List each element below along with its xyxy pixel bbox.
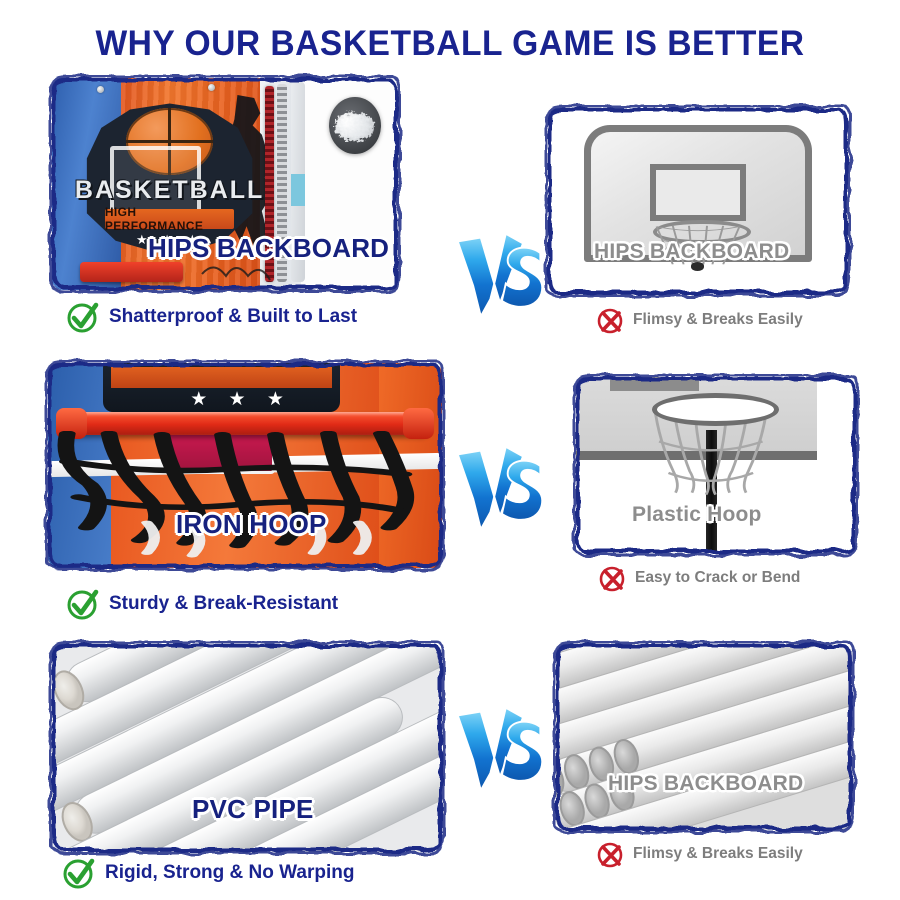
caption-bad-pipe: Flimsy & Breaks Easily: [596, 840, 803, 868]
red-rim: [80, 262, 184, 281]
vs-badge: VS: [452, 228, 548, 324]
vs-badge: [452, 702, 548, 798]
backboard-brand-sub: HIGH PERFORMANCE: [105, 209, 235, 229]
check-circle-icon: [66, 587, 100, 621]
bad-panel-hoop-image: Plastic Hoop: [576, 377, 856, 553]
caption-text: Sturdy & Break-Resistant: [109, 593, 338, 615]
caption-good-backboard: Shatterproof & Built to Last: [66, 300, 357, 334]
check-circle-icon: [62, 856, 96, 890]
cross-circle-icon: [596, 840, 624, 868]
cross-circle-icon: [598, 564, 626, 592]
hips-pellets-closeup: [329, 97, 381, 154]
page-title: WHY OUR BASKETBALL GAME IS BETTER: [18, 24, 882, 64]
product-label-plastic-hoop: Plastic Hoop: [632, 503, 762, 527]
comparison-row-backboard: BASKETBALL HIGH PERFORMANCE ★ ★ ★ ★: [0, 78, 900, 348]
bad-panel-hoop: Plastic Hoop: [576, 377, 856, 553]
product-label-pvc-pipe: PVC PIPE: [192, 794, 314, 825]
good-panel-backboard: BASKETBALL HIGH PERFORMANCE ★ ★ ★ ★: [52, 78, 398, 290]
caption-text: Flimsy & Breaks Easily: [633, 311, 803, 329]
caption-good-pipe: Rigid, Strong & No Warping: [62, 856, 354, 890]
hoop-board-stars: ★ ★ ★: [182, 388, 300, 411]
good-panel-hoop-image: ★ ★ ★: [48, 363, 442, 568]
product-label-hips-backboard: HIPS BACKBOARD: [148, 233, 389, 264]
good-panel-pipe-image: PVC PIPE: [52, 644, 442, 852]
caption-bad-backboard: Flimsy & Breaks Easily: [596, 306, 803, 334]
comparison-row-hoop: ★ ★ ★: [0, 355, 900, 630]
backboard-brand-word: BASKETBALL: [87, 174, 253, 208]
vs-badge: [452, 441, 548, 537]
bad-panel-backboard: HIPS BACKBOARD: [548, 108, 848, 294]
cross-circle-icon: [596, 306, 624, 334]
caption-bad-hoop: Easy to Crack or Bend: [598, 564, 800, 592]
bad-panel-backboard-image: HIPS BACKBOARD: [548, 108, 848, 294]
product-label-hips-backboard-bad-pipe: HIPS BACKBOARD: [608, 772, 803, 796]
product-label-iron-hoop: IRON HOOP: [176, 509, 327, 540]
good-panel-pipe: PVC PIPE: [52, 644, 442, 852]
product-label-hips-backboard-bad: HIPS BACKBOARD: [594, 240, 789, 264]
caption-good-hoop: Sturdy & Break-Resistant: [66, 587, 338, 621]
bad-panel-pipe: HIPS BACKBOARD: [556, 644, 852, 830]
good-panel-backboard-image: BASKETBALL HIGH PERFORMANCE ★ ★ ★ ★: [52, 78, 398, 290]
infographic-page: WHY OUR BASKETBALL GAME IS BETTER BASKET…: [0, 0, 900, 900]
caption-text: Rigid, Strong & No Warping: [105, 862, 354, 884]
caption-text: Flimsy & Breaks Easily: [633, 845, 803, 863]
good-panel-hoop: ★ ★ ★: [48, 363, 442, 568]
bad-panel-pipe-image: HIPS BACKBOARD: [556, 644, 852, 830]
caption-text: Shatterproof & Built to Last: [109, 306, 357, 328]
caption-text: Easy to Crack or Bend: [635, 569, 800, 587]
check-circle-icon: [66, 300, 100, 334]
comparison-row-pipe: PVC PIPE: [0, 634, 900, 899]
